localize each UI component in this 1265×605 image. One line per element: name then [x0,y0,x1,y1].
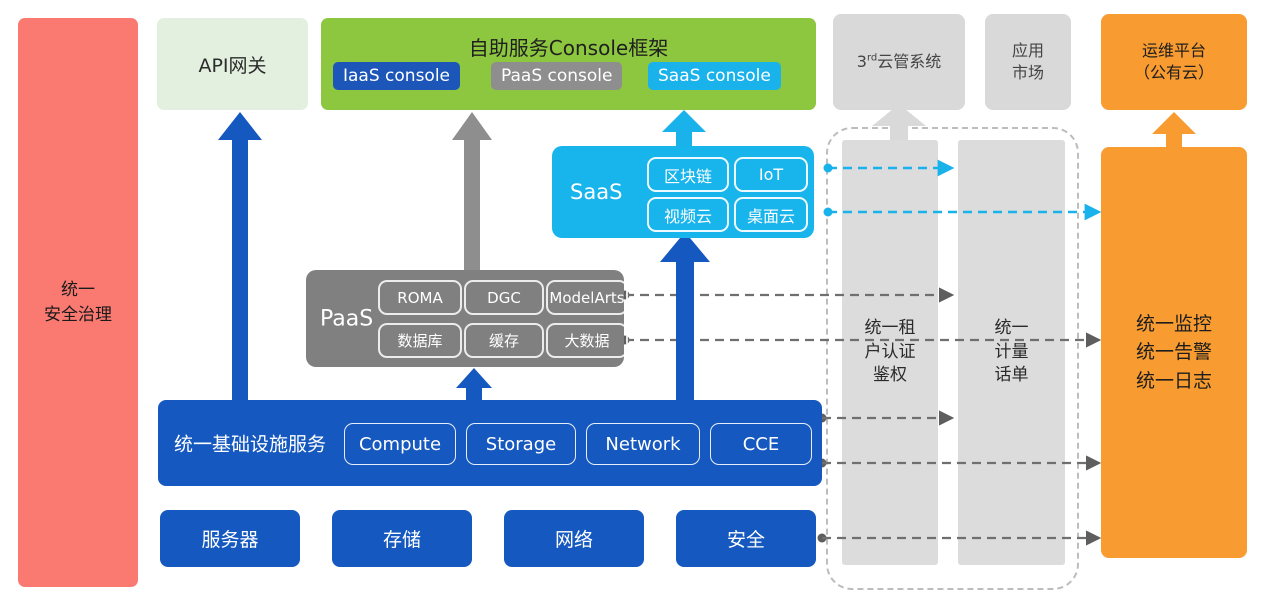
self-service-console-frame: 自助服务Console框架 IaaS console PaaS console … [321,18,816,110]
arrow-saas-to-saas-console [662,110,706,148]
ops-platform-public-cloud-box: 运维平台 （公有云） [1101,14,1247,110]
resource-label-storage: 存储 [383,525,421,552]
paas-item-database[interactable]: 数据库 [378,323,462,358]
ops-side-line-1: 统一监控 [1136,310,1212,339]
metering-line-1: 统一 [995,317,1029,341]
arrow-infra-to-api-gateway [218,112,262,400]
paas-item-bigdata[interactable]: 大数据 [546,323,628,358]
paas-item-roma[interactable]: ROMA [378,280,462,315]
security-line-2: 安全治理 [44,303,112,328]
infra-item-compute[interactable]: Compute [344,423,456,465]
unified-monitoring-panel: 统一监控 统一告警 统一日志 [1101,147,1247,558]
ops-platform-line-1: 运维平台 [1142,40,1206,62]
paas-block: PaaS ROMA DGC ModelArts 数据库 缓存 大数据 [306,270,624,367]
security-line-1: 统一 [61,278,95,303]
console-frame-title: 自助服务Console框架 [321,32,816,61]
chip-iaas-console[interactable]: IaaS console [333,62,460,90]
api-gateway-label: API网关 [198,51,266,78]
resource-box-network[interactable]: 网络 [504,510,644,567]
unified-tenant-auth-column: 统一租 户认证 鉴权 [842,140,938,565]
resource-box-server[interactable]: 服务器 [160,510,300,567]
resource-label-security: 安全 [727,525,765,552]
third-party-label: 3rd云管系统 [857,51,942,73]
saas-item-iot[interactable]: IoT [734,157,808,192]
saas-item-desktop-cloud[interactable]: 桌面云 [734,197,808,232]
infrastructure-label: 统一基础设施服务 [174,430,326,457]
resource-box-security[interactable]: 安全 [676,510,816,567]
api-gateway-box: API网关 [157,18,308,110]
chip-paas-console[interactable]: PaaS console [491,62,622,90]
ops-side-line-3: 统一日志 [1136,367,1212,396]
unified-infrastructure-service-bar: 统一基础设施服务 Compute Storage Network CCE [158,400,822,486]
ops-platform-line-2: （公有云） [1134,62,1214,84]
third-party-cloud-management-box: 3rd云管系统 [833,14,965,110]
unified-metering-billing-column: 统一 计量 话单 [958,140,1065,565]
saas-item-video-cloud[interactable]: 视频云 [647,197,729,232]
arrow-into-ops-platform [1152,112,1196,147]
resource-label-network: 网络 [555,525,593,552]
arrow-paas-to-console [452,112,492,272]
app-market-line-1: 应用 [1012,40,1044,62]
paas-item-dgc[interactable]: DGC [464,280,544,315]
resource-box-storage[interactable]: 存储 [332,510,472,567]
paas-item-cache[interactable]: 缓存 [464,323,544,358]
saas-item-blockchain[interactable]: 区块链 [647,157,729,192]
infra-item-storage[interactable]: Storage [466,423,576,465]
tenant-auth-line-3: 鉴权 [873,364,907,388]
architecture-diagram: 统一 安全治理 API网关 自助服务Console框架 IaaS console… [0,0,1265,605]
paas-block-label: PaaS [320,306,373,331]
resource-label-server: 服务器 [201,525,258,552]
saas-block-label: SaaS [570,180,622,204]
infra-item-network[interactable]: Network [586,423,700,465]
arrow-infra-to-paas [456,368,492,400]
app-market-box: 应用 市场 [985,14,1071,110]
arrow-infra-to-saas [660,232,710,400]
chip-saas-console[interactable]: SaaS console [648,62,781,90]
tenant-auth-line-2: 户认证 [865,341,916,365]
tenant-auth-line-1: 统一租 [865,317,916,341]
metering-line-2: 计量 [995,341,1029,365]
saas-block: SaaS 区块链 IoT 视频云 桌面云 [552,146,814,238]
app-market-line-2: 市场 [1012,62,1044,84]
metering-line-3: 话单 [995,364,1029,388]
infra-item-cce[interactable]: CCE [710,423,812,465]
ops-side-line-2: 统一告警 [1136,338,1212,367]
paas-item-modelarts[interactable]: ModelArts [546,280,628,315]
unified-security-governance-panel: 统一 安全治理 [18,18,138,587]
